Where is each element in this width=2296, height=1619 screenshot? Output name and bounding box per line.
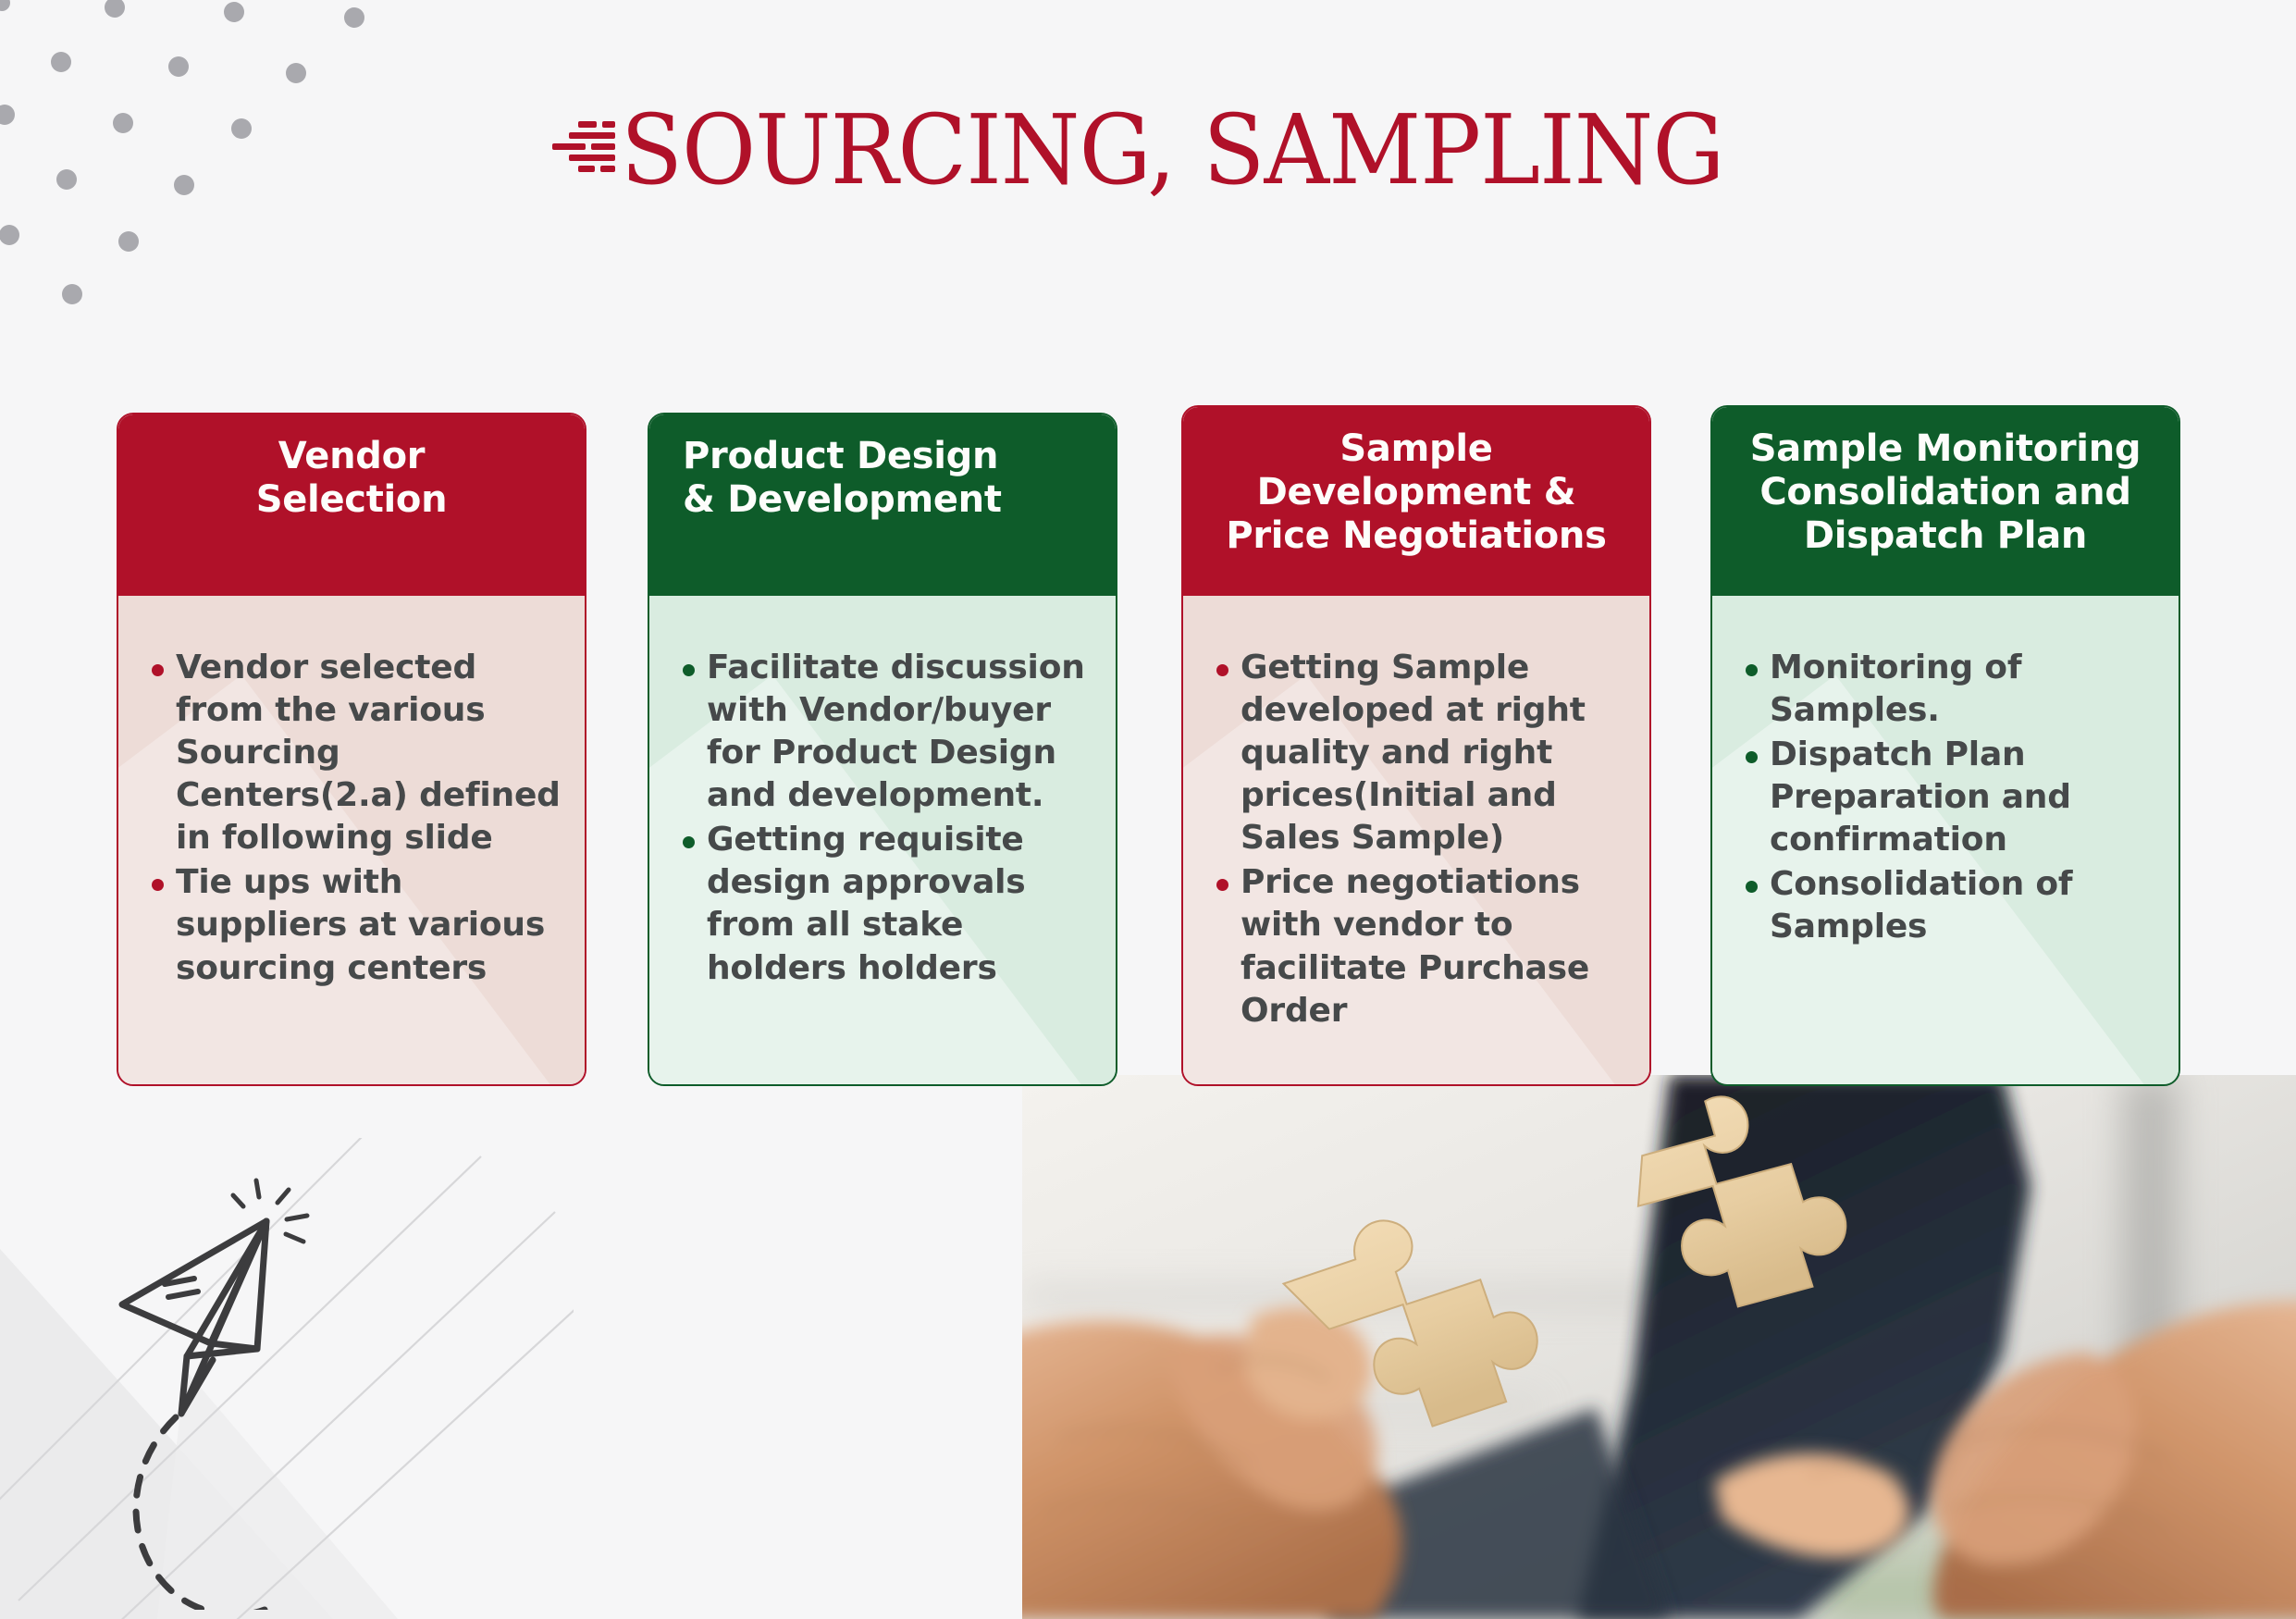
- card-title-line: Price Negotiations: [1202, 514, 1631, 558]
- bullet-list: Vendor selected from the various Sourcin…: [144, 647, 561, 990]
- card-body: Getting Sample developed at right qualit…: [1183, 596, 1649, 1084]
- card-title-line: & Development: [683, 478, 1097, 522]
- list-item: Price negotiations with vendor to facili…: [1209, 861, 1625, 1032]
- bullet-list: Monitoring of Samples. Dispatch Plan Pre…: [1738, 647, 2154, 949]
- card-product-design-development[interactable]: Product Design & Development Facilitate …: [648, 413, 1117, 1086]
- card-body: Vendor selected from the various Sourcin…: [118, 596, 585, 1084]
- bullet-list: Getting Sample developed at right qualit…: [1209, 647, 1625, 1032]
- card-title-line: Development &: [1202, 471, 1631, 514]
- list-item: Getting requisite design approvals from …: [675, 819, 1092, 989]
- card-header: Sample Monitoring Consolidation and Disp…: [1712, 407, 2179, 596]
- card-title-line: Product Design: [683, 435, 1097, 478]
- card-title-line: Selection: [137, 478, 566, 522]
- card-title-line: Sample: [1202, 427, 1631, 471]
- card-body: Facilitate discussion with Vendor/buyer …: [649, 596, 1116, 1084]
- card-title-line: Consolidation and: [1731, 471, 2160, 514]
- card-title-line: Vendor: [137, 435, 566, 478]
- bullet-list: Facilitate discussion with Vendor/buyer …: [675, 647, 1092, 990]
- list-item: Tie ups with suppliers at various sourci…: [144, 861, 561, 989]
- card-sample-monitoring-dispatch-plan[interactable]: Sample Monitoring Consolidation and Disp…: [1710, 405, 2180, 1086]
- card-sample-development-price-negotiations[interactable]: Sample Development & Price Negotiations …: [1181, 405, 1651, 1086]
- list-item: Dispatch Plan Preparation and confirmati…: [1738, 734, 2154, 861]
- card-body: Monitoring of Samples. Dispatch Plan Pre…: [1712, 596, 2179, 1084]
- card-header: Sample Development & Price Negotiations: [1183, 407, 1649, 596]
- card-title-line: Sample Monitoring: [1731, 427, 2160, 471]
- card-title-line: Dispatch Plan: [1731, 514, 2160, 558]
- list-item: Monitoring of Samples.: [1738, 647, 2154, 732]
- card-header: Product Design & Development: [649, 414, 1116, 596]
- list-item: Getting Sample developed at right qualit…: [1209, 647, 1625, 859]
- list-item: Consolidation of Samples: [1738, 863, 2154, 948]
- list-item: Vendor selected from the various Sourcin…: [144, 647, 561, 859]
- list-item: Facilitate discussion with Vendor/buyer …: [675, 647, 1092, 817]
- process-cards: Vendor Selection Vendor selected from th…: [0, 0, 2296, 1619]
- card-vendor-selection[interactable]: Vendor Selection Vendor selected from th…: [117, 413, 586, 1086]
- slide-canvas: SOURCING, SAMPLING Vendor Selection Vend…: [0, 0, 2296, 1619]
- card-header: Vendor Selection: [118, 414, 585, 596]
